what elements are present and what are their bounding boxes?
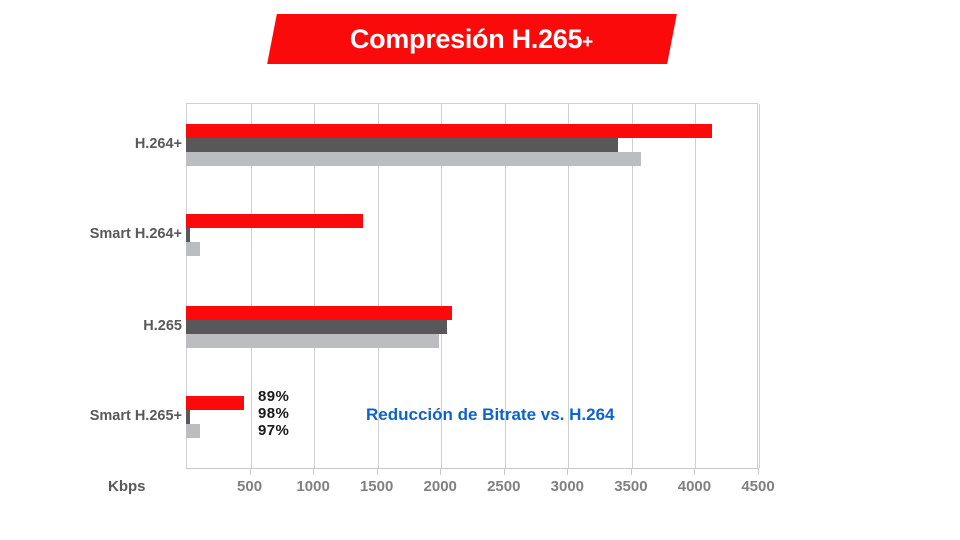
category-label-h-264: H.264+ (135, 136, 182, 152)
tick-mark (631, 469, 632, 475)
x-axis-tick-label: 3000 (537, 478, 597, 495)
title-main-text: Compresión H.265 (350, 24, 582, 54)
tick-mark (567, 469, 568, 475)
category-label-smart-h-264: Smart H.264+ (90, 226, 182, 242)
tick-mark (377, 469, 378, 475)
data-label-98: 98% (258, 405, 289, 422)
x-axis-tick-label: 4000 (664, 478, 724, 495)
bar-series-light-1 (186, 242, 200, 256)
tick-mark (504, 469, 505, 475)
tick-mark (313, 469, 314, 475)
data-label-group: 89% 98% 97% (258, 388, 289, 439)
category-label-h-265: H.265 (143, 318, 182, 334)
x-axis-tick-label: 4500 (728, 478, 788, 495)
category-label-smart-h-265: Smart H.265+ (90, 408, 182, 424)
bar-series-light-2 (186, 334, 439, 348)
bar-series-red-2 (186, 306, 452, 320)
bar-series-dark-3 (186, 410, 190, 424)
x-axis-tick-label: 2000 (410, 478, 470, 495)
page-title: Compresión H.265+ (350, 24, 593, 55)
bar-series-red-3 (186, 396, 244, 410)
tick-mark (440, 469, 441, 475)
x-axis-tick-label: 1500 (347, 478, 407, 495)
bar-series-light-3 (186, 424, 200, 438)
x-axis-tick-label: 500 (220, 478, 280, 495)
tick-mark (694, 469, 695, 475)
title-banner: Compresión H.265+ (267, 14, 677, 64)
gridline (759, 104, 760, 468)
bar-series-red-0 (186, 124, 712, 138)
bar-series-light-0 (186, 152, 641, 166)
data-label-97: 97% (258, 422, 289, 439)
x-axis-unit-label: Kbps (108, 478, 146, 495)
tick-mark (758, 469, 759, 475)
bar-series-dark-2 (186, 320, 447, 334)
x-axis-tick-label: 3500 (601, 478, 661, 495)
x-axis-tick-label: 1000 (283, 478, 343, 495)
gridline (695, 104, 696, 468)
tick-mark (250, 469, 251, 475)
bar-series-red-1 (186, 214, 363, 228)
x-axis-tick-label: 2500 (474, 478, 534, 495)
bar-series-dark-1 (186, 228, 190, 242)
data-label-89: 89% (258, 388, 289, 405)
x-axis-line (186, 468, 759, 469)
bar-series-dark-0 (186, 138, 618, 152)
title-suffix-text: + (583, 32, 594, 53)
reduction-annotation: Reducción de Bitrate vs. H.264 (366, 405, 614, 425)
